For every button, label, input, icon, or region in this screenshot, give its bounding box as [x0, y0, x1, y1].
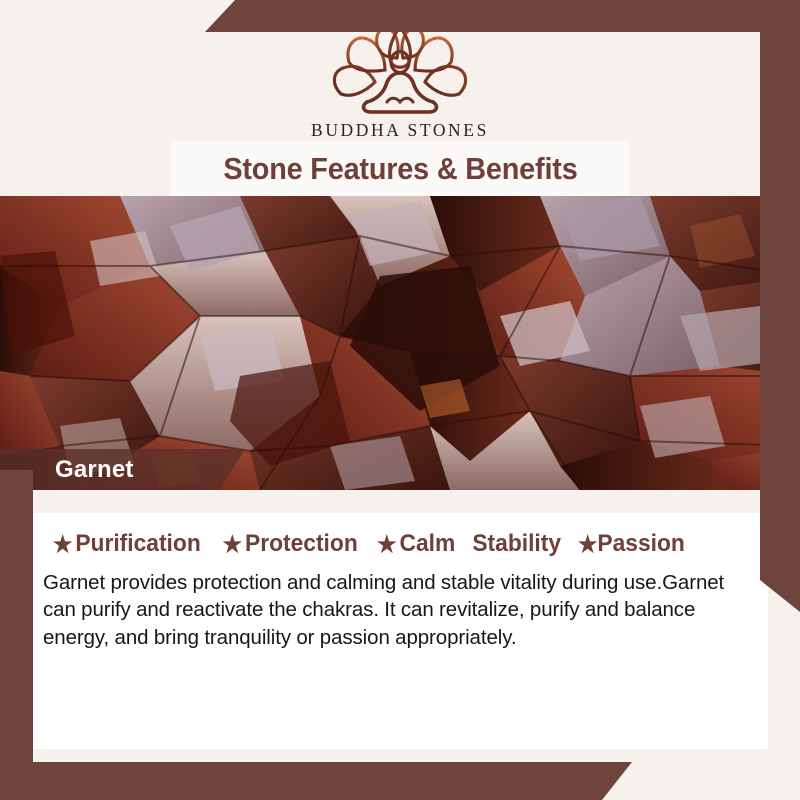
brand-logo: BUDDHA STONES	[0, 22, 800, 141]
benefit-item-stability: Stability	[473, 530, 562, 558]
lotus-meditation-icon	[325, 22, 475, 114]
page-title: Stone Features & Benefits	[223, 151, 577, 187]
stone-photo	[0, 196, 800, 490]
benefit-label: Passion	[597, 530, 684, 558]
benefit-item-purification: ★ Purification	[53, 530, 201, 558]
benefit-label: Protection	[245, 530, 358, 558]
content-card: ★ Purification ★ Protection ★ Calm Stabi…	[33, 513, 768, 749]
star-icon: ★	[53, 533, 73, 556]
benefits-list: ★ Purification ★ Protection ★ Calm Stabi…	[33, 513, 768, 558]
star-icon: ★	[577, 533, 597, 556]
frame-band-left	[0, 470, 33, 800]
title-banner: Stone Features & Benefits	[170, 141, 630, 196]
stone-description: Garnet provides protection and calming a…	[38, 569, 768, 651]
benefit-label: Purification	[75, 530, 200, 558]
star-icon: ★	[377, 533, 397, 556]
benefit-item-passion: ★ Passion	[577, 530, 684, 558]
benefit-item-protection: ★ Protection	[222, 530, 357, 558]
star-icon: ★	[222, 533, 242, 556]
benefit-label: Calm	[399, 530, 455, 558]
stone-name-banner: Garnet	[0, 449, 245, 490]
benefit-label: Stability	[473, 530, 562, 558]
frame-band-bottom	[0, 762, 632, 800]
brand-name: BUDDHA STONES	[311, 120, 489, 141]
stone-name-label: Garnet	[0, 456, 134, 484]
benefit-item-calm: ★ Calm	[377, 530, 455, 558]
garnet-crystal-graphic	[0, 196, 800, 490]
